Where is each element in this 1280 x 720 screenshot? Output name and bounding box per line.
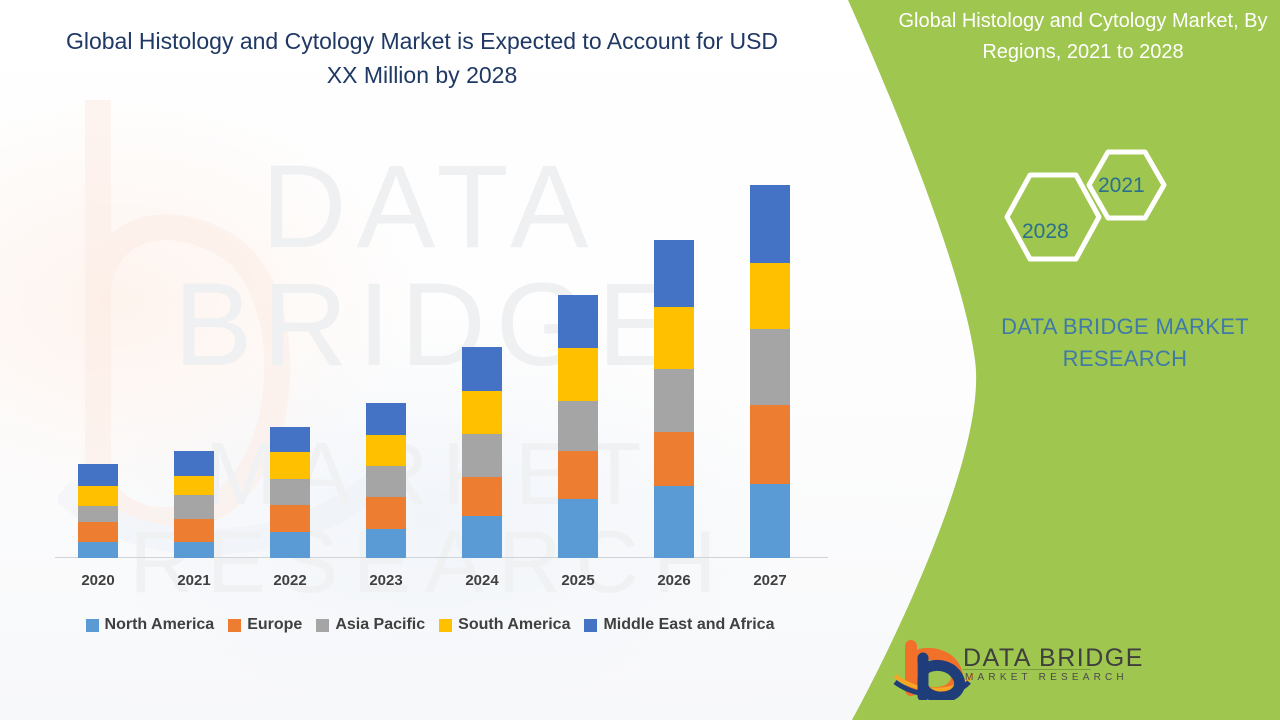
stacked-bar-plot: [55, 100, 825, 558]
legend-label: Asia Pacific: [335, 616, 425, 634]
x-tick-2024: 2024: [442, 572, 522, 589]
bar-2023: [366, 403, 406, 558]
bar-segment-middle-east-and-africa: [654, 240, 694, 307]
hex-label-2021: 2021: [1098, 174, 1145, 198]
hexagon-back-2028: [1007, 175, 1099, 259]
bar-segment-europe: [558, 451, 598, 499]
bar-segment-asia-pacific: [558, 401, 598, 451]
legend-swatch-icon: [439, 619, 452, 632]
bar-segment-middle-east-and-africa: [270, 427, 310, 452]
bar-segment-asia-pacific: [462, 434, 502, 477]
bar-segment-europe: [654, 432, 694, 485]
bar-segment-middle-east-and-africa: [462, 347, 502, 391]
logo-subtitle: MARKET RESEARCH: [965, 672, 1128, 683]
bar-segment-south-america: [78, 486, 118, 506]
bar-2025: [558, 295, 598, 558]
bar-segment-asia-pacific: [654, 369, 694, 432]
bar-segment-middle-east-and-africa: [750, 185, 790, 263]
bar-segment-north-america: [750, 484, 790, 558]
bar-segment-middle-east-and-africa: [558, 295, 598, 348]
legend-swatch-icon: [228, 619, 241, 632]
legend-label: Europe: [247, 616, 302, 634]
bar-segment-asia-pacific: [750, 329, 790, 405]
bar-segment-north-america: [366, 529, 406, 558]
legend-item-asia-pacific[interactable]: Asia Pacific: [316, 616, 425, 634]
bar-segment-europe: [174, 519, 214, 542]
bar-2024: [462, 347, 502, 558]
x-tick-2026: 2026: [634, 572, 714, 589]
bar-segment-south-america: [366, 435, 406, 466]
bar-segment-europe: [366, 497, 406, 529]
bar-segment-north-america: [174, 542, 214, 558]
legend-label: Middle East and Africa: [603, 616, 774, 634]
x-tick-2021: 2021: [154, 572, 234, 589]
page-title: Global Histology and Cytology Market is …: [62, 24, 782, 92]
legend-swatch-icon: [584, 619, 597, 632]
chart-legend: North AmericaEuropeAsia PacificSouth Ame…: [0, 616, 860, 634]
logo-divider: [963, 669, 1091, 670]
bar-segment-middle-east-and-africa: [366, 403, 406, 435]
chart-infographic: DATA BRIDGE MARKET RESEARCH Global Histo…: [0, 0, 1280, 720]
bar-segment-north-america: [78, 542, 118, 558]
legend-item-south-america[interactable]: South America: [439, 616, 570, 634]
bar-2020: [78, 464, 118, 558]
brand-line-1: DATA BRIDGE MARKET: [1001, 314, 1249, 339]
bar-segment-north-america: [270, 532, 310, 558]
bar-segment-europe: [462, 477, 502, 517]
bar-2022: [270, 427, 310, 558]
bar-segment-middle-east-and-africa: [174, 451, 214, 475]
hex-label-2028: 2028: [1022, 220, 1069, 244]
right-panel-title: Global Histology and Cytology Market, By…: [888, 6, 1278, 68]
x-tick-2027: 2027: [730, 572, 810, 589]
bar-segment-europe: [270, 505, 310, 531]
bar-segment-asia-pacific: [174, 495, 214, 519]
legend-item-middle-east-and-africa[interactable]: Middle East and Africa: [584, 616, 774, 634]
bar-2021: [174, 451, 214, 558]
bar-segment-north-america: [558, 499, 598, 558]
legend-swatch-icon: [86, 619, 99, 632]
x-tick-2020: 2020: [58, 572, 138, 589]
hexagon-badges-icon: [975, 145, 1190, 290]
bar-segment-south-america: [462, 391, 502, 434]
x-tick-2023: 2023: [346, 572, 426, 589]
bar-segment-north-america: [654, 486, 694, 558]
bar-2026: [654, 240, 694, 559]
bar-segment-middle-east-and-africa: [78, 464, 118, 486]
brand-line-2: RESEARCH: [1063, 346, 1188, 371]
bar-segment-europe: [750, 405, 790, 483]
bar-segment-asia-pacific: [366, 466, 406, 498]
bar-segment-asia-pacific: [270, 479, 310, 505]
legend-swatch-icon: [316, 619, 329, 632]
legend-label: South America: [458, 616, 570, 634]
legend-label: North America: [105, 616, 215, 634]
bar-segment-south-america: [558, 348, 598, 400]
bar-segment-south-america: [654, 307, 694, 369]
bar-segment-south-america: [270, 452, 310, 478]
bar-segment-north-america: [462, 516, 502, 558]
bar-segment-south-america: [174, 476, 214, 495]
legend-item-europe[interactable]: Europe: [228, 616, 302, 634]
bar-segment-asia-pacific: [78, 506, 118, 522]
brand-name: DATA BRIDGE MARKET RESEARCH: [975, 311, 1275, 375]
x-tick-2022: 2022: [250, 572, 330, 589]
bar-segment-south-america: [750, 263, 790, 329]
legend-item-north-america[interactable]: North America: [86, 616, 215, 634]
bar-segment-europe: [78, 522, 118, 542]
x-tick-2025: 2025: [538, 572, 618, 589]
bar-2027: [750, 185, 790, 558]
